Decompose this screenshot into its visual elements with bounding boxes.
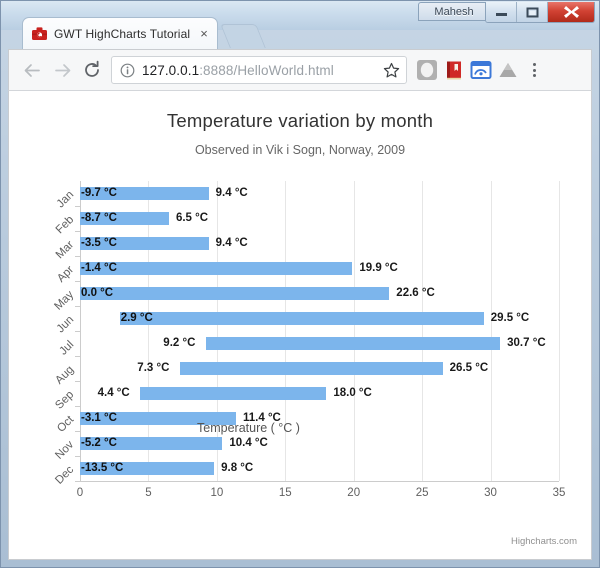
back-button[interactable] [17, 55, 47, 85]
grid-line [491, 181, 492, 481]
y-axis-tick [75, 331, 80, 332]
page-viewport: Temperature variation by month Observed … [8, 91, 592, 560]
extension-oval-icon[interactable] [414, 57, 440, 83]
y-axis-tick [75, 356, 80, 357]
grid-line [559, 181, 560, 481]
tab-title: GWT HighCharts Tutorial [54, 27, 197, 41]
grid-line [422, 181, 423, 481]
three-dot-menu-icon[interactable] [523, 57, 545, 83]
extension-drive-icon[interactable] [495, 57, 521, 83]
back-arrow-icon [23, 62, 42, 79]
y-axis-tick [75, 281, 80, 282]
bar[interactable] [80, 287, 389, 300]
x-tick-label: 0 [60, 487, 100, 499]
data-label-high: 9.4 °C [216, 237, 248, 250]
data-label-high: 6.5 °C [176, 212, 208, 225]
data-label-high: 9.4 °C [216, 187, 248, 200]
x-axis-title: Temperature ( °C ) [9, 421, 488, 435]
extension-window-icon[interactable] [468, 57, 494, 83]
bar[interactable] [140, 387, 326, 400]
url-path: :8888/HelloWorld.html [199, 63, 334, 78]
url-text[interactable]: 127.0.0.1:8888/HelloWorld.html [142, 63, 382, 78]
tab-close-icon[interactable]: × [197, 28, 211, 40]
data-label-low: -8.7 °C [81, 212, 117, 225]
data-label-high: 26.5 °C [450, 362, 488, 375]
x-axis-line [80, 481, 559, 482]
chart-credits: Highcharts.com [511, 536, 577, 547]
address-bar[interactable]: 127.0.0.1:8888/HelloWorld.html [111, 56, 407, 84]
data-label-low: 0.0 °C [81, 287, 113, 300]
forward-arrow-icon [53, 62, 72, 79]
y-axis-line [80, 181, 81, 481]
y-axis-tick [75, 231, 80, 232]
x-tick-label: 5 [128, 487, 168, 499]
y-axis-tick [75, 481, 80, 482]
y-axis-tick [75, 406, 80, 407]
data-label-high: 10.4 °C [229, 437, 267, 450]
data-label-high: 29.5 °C [491, 312, 529, 325]
grid-line [148, 181, 149, 481]
forward-button[interactable] [47, 55, 77, 85]
x-tick-label: 15 [265, 487, 305, 499]
y-axis-tick [75, 256, 80, 257]
data-label-low: 9.2 °C [163, 337, 195, 350]
data-label-low: -9.7 °C [81, 187, 117, 200]
bar[interactable] [180, 362, 443, 375]
bookmark-star-icon[interactable] [382, 62, 400, 79]
bar[interactable] [206, 337, 500, 350]
x-tick-label: 30 [471, 487, 511, 499]
data-label-low: -13.5 °C [81, 462, 123, 475]
data-label-low: 7.3 °C [137, 362, 169, 375]
data-label-low: 2.9 °C [121, 312, 153, 325]
bar[interactable] [120, 312, 484, 325]
y-axis-tick [75, 206, 80, 207]
y-axis-tick [75, 456, 80, 457]
x-tick-label: 25 [402, 487, 442, 499]
data-label-high: 30.7 °C [507, 337, 545, 350]
data-label-high: 22.6 °C [396, 287, 434, 300]
grid-line [354, 181, 355, 481]
x-tick-label: 20 [334, 487, 374, 499]
data-label-high: 18.0 °C [333, 387, 371, 400]
data-label-high: 9.8 °C [221, 462, 253, 475]
browser-tab[interactable]: GWT HighCharts Tutorial × [22, 17, 218, 49]
data-label-low: 4.4 °C [98, 387, 130, 400]
grid-line [217, 181, 218, 481]
gwt-toolbox-icon [31, 25, 48, 42]
x-tick-label: 35 [539, 487, 579, 499]
page-info-icon[interactable] [120, 63, 135, 78]
reload-button[interactable] [77, 55, 107, 85]
y-axis-tick [75, 306, 80, 307]
x-tick-label: 10 [197, 487, 237, 499]
grid-line [285, 181, 286, 481]
url-host: 127.0.0.1 [142, 63, 199, 78]
browser-window: Mahesh [0, 0, 600, 568]
reload-icon [82, 60, 102, 80]
plot-area: 05101520253035Jan-9.7 °C9.4 °CFeb-8.7 °C… [80, 181, 559, 481]
tab-strip: GWT HighCharts Tutorial × [0, 17, 600, 49]
data-label-low: -1.4 °C [81, 262, 117, 275]
y-axis-tick [75, 381, 80, 382]
chart-title: Temperature variation by month [9, 110, 591, 132]
maximize-icon [526, 7, 539, 18]
extension-book-icon[interactable] [441, 57, 467, 83]
data-label-high: 19.9 °C [359, 262, 397, 275]
chart-subtitle: Observed in Vik i Sogn, Norway, 2009 [9, 143, 591, 157]
highcharts-chart: Temperature variation by month Observed … [9, 91, 591, 558]
browser-toolbar: 127.0.0.1:8888/HelloWorld.html [8, 49, 592, 91]
bar[interactable] [80, 262, 352, 275]
minimize-icon [495, 7, 508, 17]
data-label-low: -5.2 °C [81, 437, 117, 450]
new-tab-button[interactable] [220, 24, 266, 48]
data-label-low: -3.5 °C [81, 237, 117, 250]
